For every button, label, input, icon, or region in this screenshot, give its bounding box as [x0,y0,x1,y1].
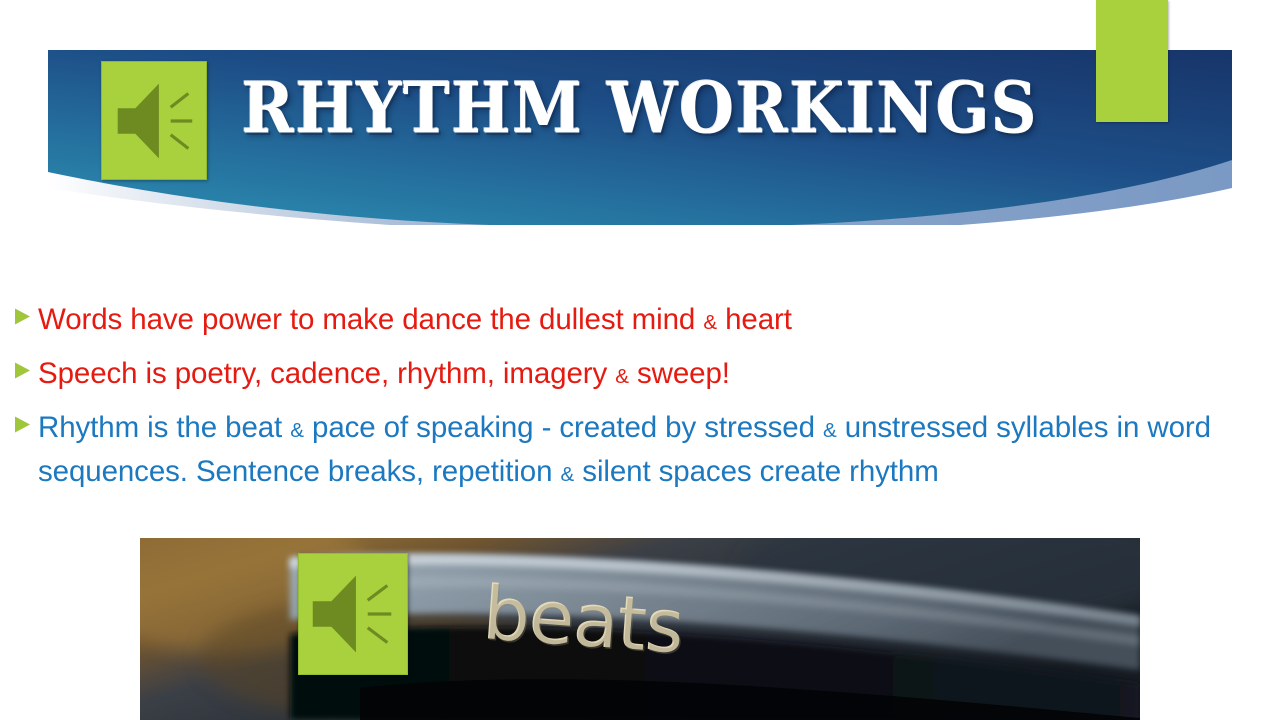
ampersand: & [290,419,304,442]
triangle-bullet-icon [0,298,38,326]
beats-photo-artwork: beats beats [140,538,1140,720]
speaker-icon [298,553,408,675]
list-item: Words have power to make dance the dulle… [0,298,1240,343]
list-item: Speech is poetry, cadence, rhythm, image… [0,352,1240,397]
list-item-text: Speech is poetry, cadence, rhythm, image… [38,352,1240,397]
page-title-text: RHYTHM WORKINGS [242,67,1039,150]
list-item-text: Rhythm is the beat & pace of speaking - … [38,406,1240,496]
triangle-bullet-icon [0,406,38,434]
green-accent-bar [1096,0,1168,122]
page-title: RHYTHM WORKINGS [200,58,1080,158]
svg-text:beats: beats [481,572,687,672]
list-item-text: Words have power to make dance the dulle… [38,298,1240,343]
list-item: Rhythm is the beat & pace of speaking - … [0,406,1240,496]
ampersand: & [703,311,717,334]
bullet-list: Words have power to make dance the dulle… [0,298,1240,504]
presentation-slide: RHYTHM WORKINGS Words have power to make… [0,0,1280,720]
ampersand: & [823,419,837,442]
beats-headphones-image: beats beats [140,538,1140,720]
triangle-bullet-icon [0,352,38,380]
speaker-icon [101,61,207,180]
ampersand: & [615,365,629,388]
ampersand: & [561,463,575,486]
